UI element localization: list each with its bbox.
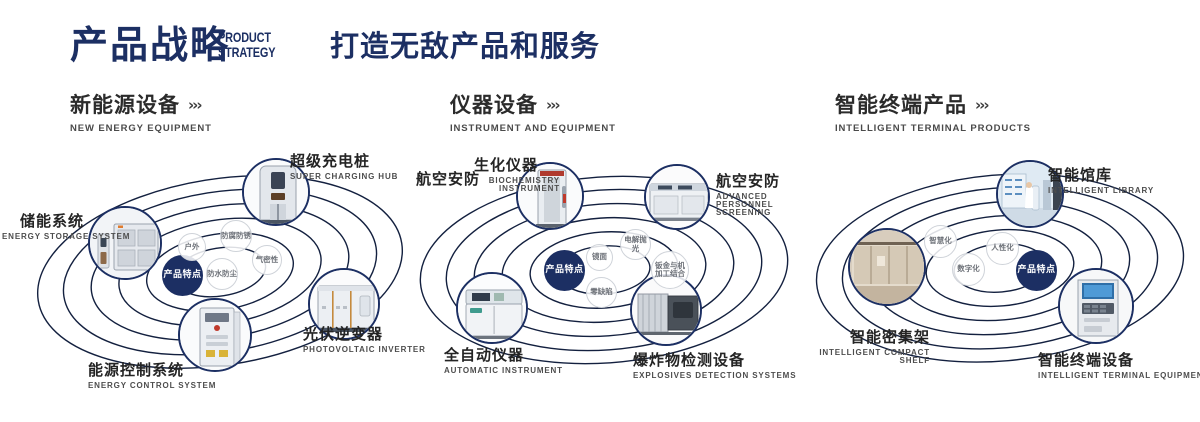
feature-label-1-0: 镜面 — [592, 253, 607, 261]
label-cn-0-1: 超级充电桩 — [290, 154, 398, 169]
section-heading-new-energy: 新能源设备››› NEW ENERGY EQUIPMENT — [70, 95, 212, 134]
label-en-1-2: ADVANCED PERSONNEL SCREENING — [716, 193, 808, 217]
label-intelligent-terminal-equipment: 智能终端设备 INTELLIGENT TERMINAL EQUIPMENT — [1038, 353, 1200, 380]
section-title-en-2: INTELLIGENT TERMINAL PRODUCTS — [835, 123, 1031, 134]
label-en-2-1: INTELLIGENT COMPACT SHELF — [808, 349, 930, 365]
center-badge-2: 产品特点 — [1016, 250, 1057, 291]
feature-label-2-1: 数字化 — [957, 265, 980, 273]
diagram-group-instrument: 产品特点 镜面 电解抛光 零缺陷 钣金与机加工结合 航空安防 生化仪器 BIOC… — [408, 150, 808, 395]
feature-bubble-1-1: 电解抛光 — [620, 229, 651, 260]
battery-cabinet-photo — [90, 208, 160, 278]
section-title-text-1: 仪器设备 — [450, 93, 538, 117]
label-en-text-1-2: ADVANCED PERSONNEL SCREENING — [716, 192, 773, 217]
feature-label-1-1: 电解抛光 — [621, 236, 650, 253]
page-title-english-line1: PRODUCT — [218, 30, 275, 45]
feature-bubble-0-0: 户外 — [178, 233, 206, 261]
control-cabinet-photo — [180, 300, 250, 370]
feature-label-1-2: 零缺陷 — [590, 288, 613, 296]
center-badge-1: 产品特点 — [544, 250, 585, 291]
section-heading-intelligent: 智能终端产品››› INTELLIGENT TERMINAL PRODUCTS — [835, 95, 1031, 134]
feature-label-0-0: 户外 — [185, 243, 200, 251]
label-en-text-1-1: BIOCHEMISTRY INSTRUMENT — [489, 176, 560, 193]
compact-shelf-photo — [850, 230, 924, 304]
diagram-group-new-energy: 产品特点 户外 防腐防锈 防水防尘 气密性 储能系统 ENERGY STORAG… — [20, 150, 420, 395]
section-title-cn-2: 智能终端产品››› — [835, 95, 1031, 116]
center-badge-0: 产品特点 — [162, 255, 203, 296]
feature-bubble-1-3: 钣金与机加工结合 — [651, 251, 689, 289]
label-automatic-instrument: 全自动仪器 AUTOMATIC INSTRUMENT — [444, 348, 563, 375]
section-title-text-0: 新能源设备 — [70, 93, 180, 117]
feature-label-2-0: 智慧化 — [929, 237, 952, 245]
node-energy-control-system[interactable] — [178, 298, 252, 372]
diagram-group-intelligent: 产品特点 智慧化 数字化 人性化 智能馆库 INTELLIGENT LIBRAR… — [800, 150, 1200, 395]
label-cn-2-1: 智能密集架 — [808, 330, 930, 345]
label-cn-1-0: 航空安防 — [398, 172, 480, 187]
label-intelligent-compact-shelf: 智能密集架 INTELLIGENT COMPACT SHELF — [808, 330, 930, 365]
automatic-instrument-photo — [458, 274, 526, 342]
feature-bubble-1-2: 零缺陷 — [586, 277, 617, 308]
feature-bubble-2-0: 智慧化 — [924, 225, 957, 258]
chevrons-right-icon-1: ››› — [546, 98, 559, 113]
feature-bubble-0-3: 气密性 — [252, 245, 282, 275]
label-cn-2-2: 智能终端设备 — [1038, 353, 1200, 368]
feature-bubble-2-2: 人性化 — [986, 232, 1019, 265]
label-en-0-3: ENERGY CONTROL SYSTEM — [88, 382, 216, 390]
label-biochemistry-instrument: 生化仪器 BIOCHEMISTRY INSTRUMENT — [474, 158, 560, 193]
page-subtitle: 打造无敌产品和服务 — [330, 32, 600, 61]
label-aviation-security-left: 航空安防 — [398, 172, 480, 191]
screening-machine-photo — [646, 166, 708, 228]
page-title-english-line2: STRATEGY — [218, 45, 275, 60]
label-en-2-0: INTELLIGENT LIBRARY — [1048, 187, 1154, 195]
terminal-kiosk-photo — [1060, 270, 1132, 342]
label-en-text-2-1: INTELLIGENT COMPACT SHELF — [819, 348, 930, 365]
label-cn-0-0: 储能系统 — [2, 214, 84, 229]
label-cn-1-2: 航空安防 — [716, 174, 808, 189]
label-cn-2-0: 智能馆库 — [1048, 168, 1154, 183]
label-explosives-detection-systems: 爆炸物检测设备 EXPLOSIVES DETECTION SYSTEMS — [633, 353, 796, 380]
page-title-english: PRODUCT STRATEGY — [218, 30, 275, 59]
label-intelligent-library: 智能馆库 INTELLIGENT LIBRARY — [1048, 168, 1154, 195]
feature-label-0-2: 防水防尘 — [207, 270, 237, 278]
node-advanced-personnel-screening[interactable] — [644, 164, 710, 230]
feature-label-2-2: 人性化 — [991, 244, 1014, 252]
label-en-0-1: SUPER CHARGING HUB — [290, 173, 398, 181]
product-strategy-infographic: 产品战略 PRODUCT STRATEGY 打造无敌产品和服务 新能源设备›››… — [0, 0, 1200, 422]
chevrons-right-icon-2: ››› — [975, 98, 988, 113]
section-title-text-2: 智能终端产品 — [835, 93, 967, 117]
label-en-1-4: EXPLOSIVES DETECTION SYSTEMS — [633, 372, 796, 380]
node-automatic-instrument[interactable] — [456, 272, 528, 344]
node-intelligent-compact-shelf[interactable] — [848, 228, 926, 306]
center-badge-label-0: 产品特点 — [163, 270, 201, 280]
center-badge-label-1: 产品特点 — [545, 265, 583, 275]
feature-bubble-1-0: 镜面 — [586, 244, 613, 271]
label-cn-1-4: 爆炸物检测设备 — [633, 353, 796, 368]
section-title-en-1: INSTRUMENT AND EQUIPMENT — [450, 123, 616, 134]
section-title-cn-0: 新能源设备››› — [70, 95, 212, 116]
feature-label-0-3: 气密性 — [256, 256, 279, 264]
label-en-0-0: ENERGY STORAGE SYSTEM — [2, 233, 84, 241]
feature-bubble-0-2: 防水防尘 — [206, 258, 238, 290]
section-heading-instrument: 仪器设备››› INSTRUMENT AND EQUIPMENT — [450, 95, 616, 134]
label-energy-storage-system: 储能系统 ENERGY STORAGE SYSTEM — [2, 214, 84, 241]
label-cn-1-1: 生化仪器 — [474, 158, 560, 173]
header: 产品战略 PRODUCT STRATEGY 打造无敌产品和服务 — [0, 0, 1200, 86]
label-super-charging-hub: 超级充电桩 SUPER CHARGING HUB — [290, 154, 398, 181]
label-en-2-2: INTELLIGENT TERMINAL EQUIPMENT — [1038, 372, 1200, 380]
center-badge-label-2: 产品特点 — [1017, 265, 1055, 275]
node-intelligent-terminal-equipment[interactable] — [1058, 268, 1134, 344]
chevrons-right-icon-0: ››› — [188, 98, 201, 113]
label-cn-1-3: 全自动仪器 — [444, 348, 563, 363]
section-title-en-0: NEW ENERGY EQUIPMENT — [70, 123, 212, 134]
section-title-cn-1: 仪器设备››› — [450, 95, 616, 116]
feature-bubble-0-1: 防腐防锈 — [220, 220, 252, 252]
label-energy-control-system: 能源控制系统 ENERGY CONTROL SYSTEM — [88, 363, 216, 390]
node-energy-storage-system[interactable] — [88, 206, 162, 280]
feature-label-0-1: 防腐防锈 — [221, 232, 251, 240]
feature-label-1-3: 钣金与机加工结合 — [652, 262, 688, 279]
page-title: 产品战略 — [70, 26, 230, 64]
feature-bubble-2-1: 数字化 — [952, 253, 985, 286]
label-cn-0-3: 能源控制系统 — [88, 363, 216, 378]
label-en-1-1: BIOCHEMISTRY INSTRUMENT — [474, 177, 560, 193]
label-en-1-3: AUTOMATIC INSTRUMENT — [444, 367, 563, 375]
label-advanced-personnel-screening: 航空安防 ADVANCED PERSONNEL SCREENING — [716, 174, 808, 217]
